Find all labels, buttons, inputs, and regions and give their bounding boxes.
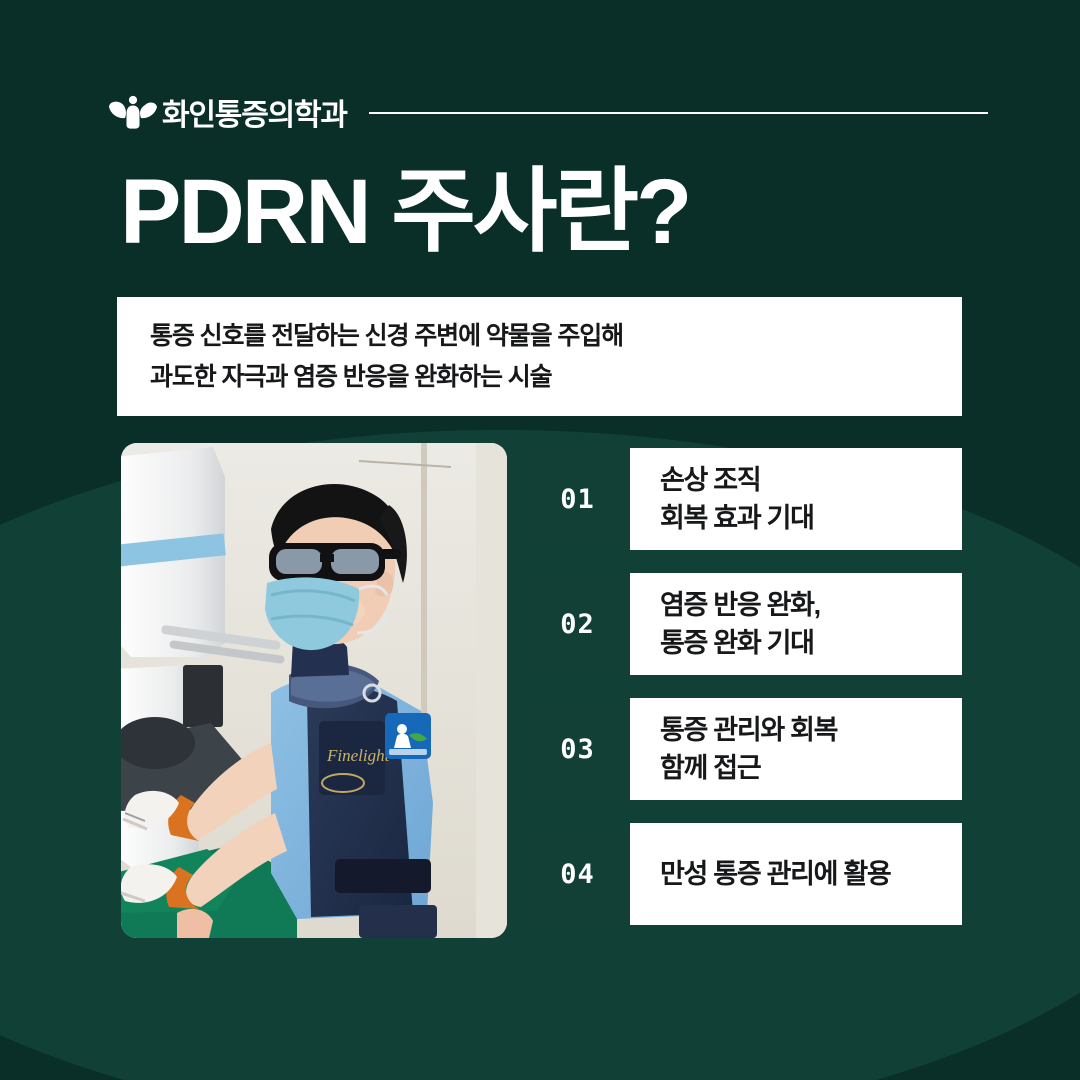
- list-item-line-2: 통증 완화 기대: [660, 624, 962, 662]
- benefit-list: 01 손상 조직 회복 효과 기대 02 염증 반응 완화, 통증 완화 기대 …: [525, 448, 962, 925]
- list-item[interactable]: 04 만성 통증 관리에 활용: [525, 823, 962, 925]
- header-divider-rule: [369, 112, 988, 114]
- list-item-line-2: 회복 효과 기대: [660, 499, 962, 537]
- list-item-number: 03: [525, 698, 630, 800]
- list-item-number: 01: [525, 448, 630, 550]
- procedure-photo-illustration: Finelight: [121, 443, 507, 938]
- description-line-2: 과도한 자극과 염증 반응을 완화하는 시술: [150, 357, 962, 398]
- list-item[interactable]: 03 통증 관리와 회복 함께 접근: [525, 698, 962, 800]
- procedure-photo: Finelight: [121, 443, 507, 938]
- description-panel: 통증 신호를 전달하는 신경 주변에 약물을 주입해 과도한 자극과 염증 반응…: [117, 297, 962, 416]
- list-item-body: 염증 반응 완화, 통증 완화 기대: [630, 573, 962, 675]
- list-item-line-1: 손상 조직: [660, 461, 962, 499]
- list-item[interactable]: 02 염증 반응 완화, 통증 완화 기대: [525, 573, 962, 675]
- list-item[interactable]: 01 손상 조직 회복 효과 기대: [525, 448, 962, 550]
- list-item-body: 손상 조직 회복 효과 기대: [630, 448, 962, 550]
- list-item-line-1: 염증 반응 완화,: [660, 586, 962, 624]
- list-item-number: 04: [525, 823, 630, 925]
- brand-header: 화인통증의학과: [108, 88, 988, 136]
- list-item-line-2: 함께 접근: [660, 749, 962, 787]
- infographic-card: 화인통증의학과 PDRN 주사란? 통증 신호를 전달하는 신경 주변에 약물을…: [0, 0, 1080, 1080]
- list-item-line-1: 통증 관리와 회복: [660, 711, 962, 749]
- list-item-line-1: 만성 통증 관리에 활용: [660, 855, 962, 893]
- leaf-person-icon: [108, 95, 158, 129]
- brand-name: 화인통증의학과: [162, 90, 347, 134]
- list-item-body: 만성 통증 관리에 활용: [630, 823, 962, 925]
- page-title: PDRN 주사란?: [120, 163, 689, 262]
- list-item-number: 02: [525, 573, 630, 675]
- svg-text:Finelight: Finelight: [326, 746, 391, 765]
- description-line-1: 통증 신호를 전달하는 신경 주변에 약물을 주입해: [150, 316, 962, 357]
- list-item-body: 통증 관리와 회복 함께 접근: [630, 698, 962, 800]
